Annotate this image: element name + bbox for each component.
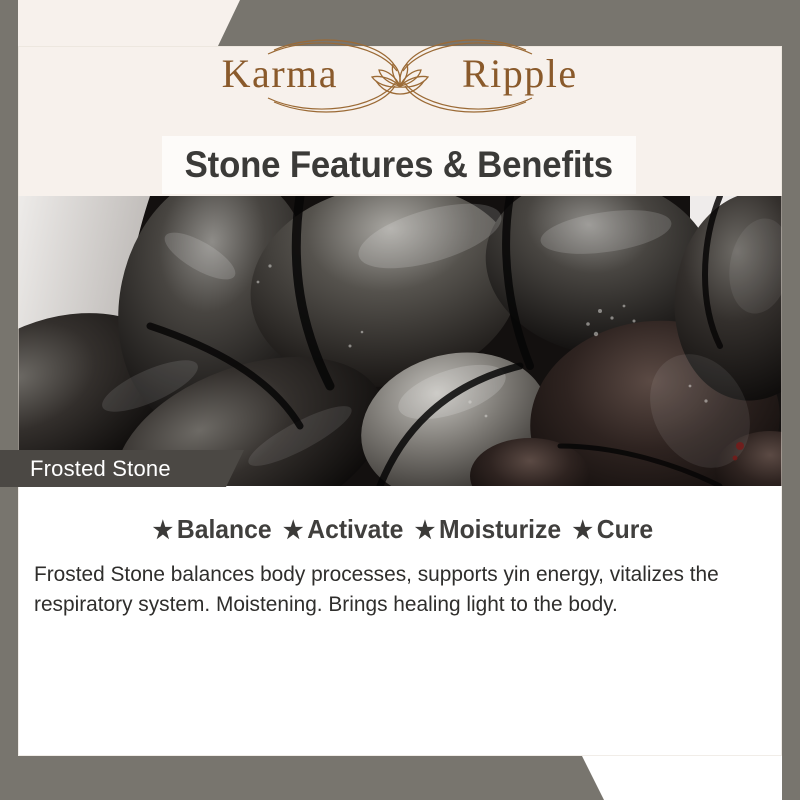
star-icon: ★ — [415, 516, 435, 545]
frame-left-bar — [0, 0, 18, 800]
stone-photo-artwork — [0, 196, 800, 486]
brand-name-right: Ripple — [462, 51, 578, 96]
content-section: ★Balance★Activate★Moisturize★Cure Froste… — [0, 486, 800, 800]
star-icon: ★ — [283, 516, 303, 545]
benefit-cure: Cure — [597, 514, 653, 545]
title-banner: Stone Features & Benefits — [162, 136, 636, 194]
logo-artwork: Karma Ripple — [190, 36, 610, 114]
frame-right-bar — [782, 0, 800, 800]
frame-bottom-bar — [0, 756, 604, 800]
star-icon: ★ — [153, 516, 173, 545]
brand-logo[interactable]: Karma Ripple — [0, 36, 800, 114]
stone-description: Frosted Stone balances body processes, s… — [34, 559, 744, 619]
stone-photo — [0, 196, 800, 486]
page-title: Stone Features & Benefits — [185, 144, 613, 186]
benefits-list: ★Balance★Activate★Moisturize★Cure — [20, 514, 780, 545]
brand-name-left: Karma — [222, 51, 338, 96]
lotus-icon — [372, 64, 428, 94]
benefit-moisturize: Moisturize — [439, 514, 561, 545]
star-icon: ★ — [573, 516, 593, 545]
benefit-activate: Activate — [307, 514, 403, 545]
stone-name-label: Frosted Stone — [30, 456, 171, 482]
poster-card: Karma Ripple Stone Features & Benefits — [0, 0, 800, 800]
benefit-balance: Balance — [177, 514, 272, 545]
stone-name-badge: Frosted Stone — [0, 450, 244, 487]
